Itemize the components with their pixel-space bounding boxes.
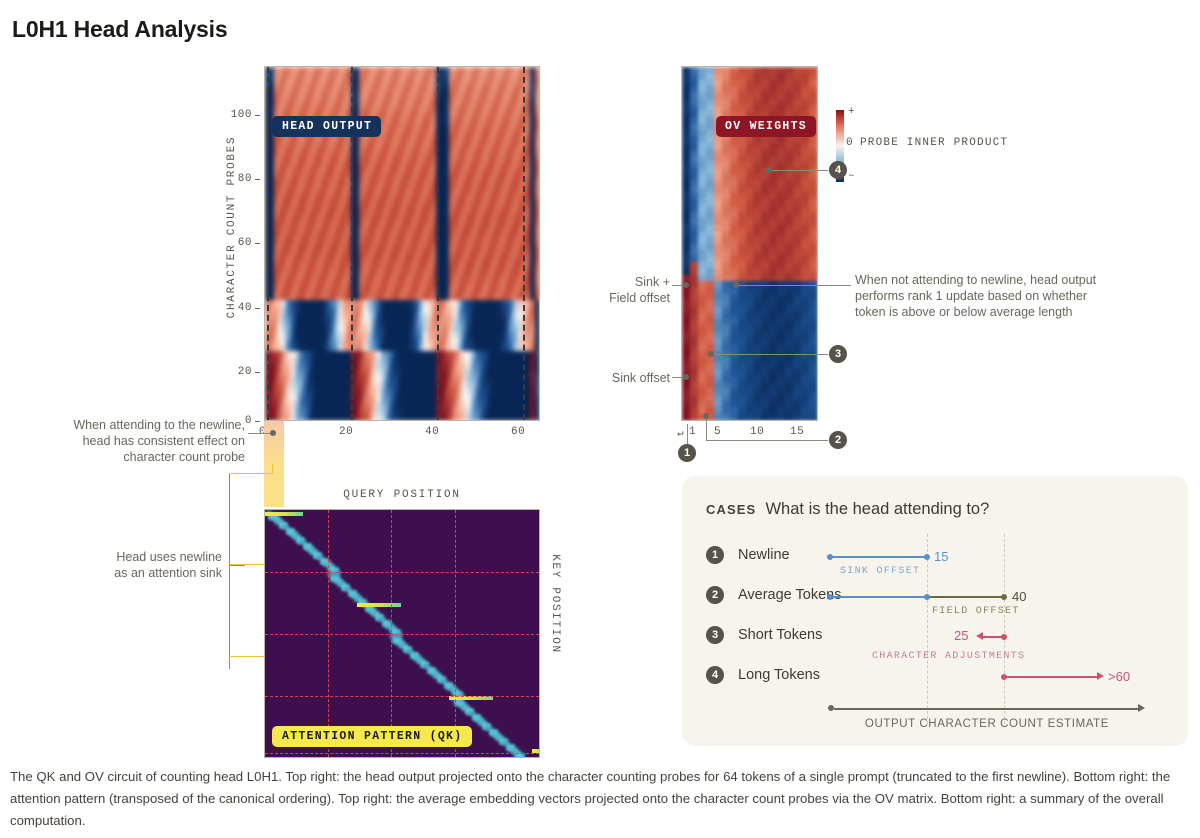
case-value-average-tokens: 40 [1012, 589, 1026, 604]
annotation-rank1-update: When not attending to newline, head outp… [855, 272, 1175, 320]
x-tick-newline: ↵ [677, 426, 684, 440]
label-sink-offset: Sink offset [560, 370, 670, 386]
sink-field-offset-line1: Sink + [560, 274, 670, 290]
annotation-newline-line2: head has consistent effect on [10, 433, 245, 449]
colorbar-tick-minus: – [848, 170, 855, 182]
dot-sink-offset [683, 374, 689, 380]
colorbar-label: PROBE INNER PRODUCT [860, 137, 1008, 149]
y-tick-60: 60 [212, 237, 252, 249]
marker-2[interactable]: 2 [829, 431, 847, 449]
case-value-short-tokens: 25 [954, 628, 968, 643]
cases-question: What is the head attending to? [765, 500, 989, 518]
leader-rank1-update [736, 285, 851, 286]
case-arrow-long-tokens [1097, 672, 1104, 680]
marker-3[interactable]: 3 [829, 345, 847, 363]
case-label-short-tokens: Short Tokens [738, 627, 822, 643]
case-segment-long-tokens [1004, 676, 1099, 678]
newline-divider-0 [267, 67, 269, 420]
y-axis-head-output: CHARACTER COUNT PROBES 100 80 60 40 20 0 [208, 66, 264, 421]
annotation-rank1-line1: When not attending to newline, head outp… [855, 272, 1175, 288]
case-segment-avg-sink [830, 596, 927, 598]
leader-newline-effect [248, 433, 272, 434]
leader-marker-2-h [706, 440, 828, 441]
leader-marker-4 [772, 170, 828, 171]
case-marker-3: 3 [706, 626, 724, 644]
sink-bracket-arm-1 [229, 473, 273, 474]
y-tick-100: 100 [212, 109, 252, 121]
cases-guide-line-1 [927, 534, 928, 724]
newline-divider-2 [437, 67, 439, 420]
sink-bracket-riser-1 [272, 464, 273, 474]
case-label-long-tokens: Long Tokens [738, 667, 820, 683]
case-segment-label-character-adjustments: CHARACTER ADJUSTMENTS [872, 651, 1025, 662]
annotation-attention-sink: Head uses newline as an attention sink [10, 549, 222, 581]
label-sink-field-offset: Sink + Field offset [560, 274, 670, 306]
leader-marker-2-v [706, 416, 707, 440]
cases-axis-start-dot [828, 705, 834, 711]
case-label-newline: Newline [738, 547, 790, 563]
y-axis-label-key-position: KEY POSITION [549, 544, 561, 664]
case-arrow-short-tokens [976, 632, 983, 640]
attention-pattern-badge: ATTENTION PATTERN (QK) [272, 726, 472, 747]
x-tick-15: 15 [790, 426, 804, 438]
cases-axis-label: OUTPUT CHARACTER COUNT ESTIMATE [834, 718, 1140, 730]
case-segment-avg-start [827, 594, 833, 600]
marker-1[interactable]: 1 [678, 444, 696, 462]
case-value-newline: 15 [934, 549, 948, 564]
x-tick-10: 10 [750, 426, 764, 438]
y-tick-40: 40 [212, 302, 252, 314]
leader-attention-sink-tick [229, 565, 245, 566]
case-label-average-tokens: Average Tokens [738, 587, 841, 603]
case-segment-sink-offset-start [827, 554, 833, 560]
annotation-newline-line3: character count probe [10, 449, 245, 465]
marker-4[interactable]: 4 [829, 161, 847, 179]
newline-divider-3 [523, 67, 525, 420]
annotation-rank1-line2: performs rank 1 update based on whether [855, 288, 1175, 304]
annotation-rank1-line3: token is above or below average length [855, 304, 1175, 320]
leader-marker-3 [713, 354, 828, 355]
x-tick-40: 40 [425, 426, 439, 438]
x-tick-1: 1 [689, 426, 696, 438]
ov-weights-badge: OV WEIGHTS [716, 116, 816, 137]
case-segment-avg-mid [924, 594, 930, 600]
case-segment-avg-end [1001, 594, 1007, 600]
annotation-sink-line2: as an attention sink [10, 565, 222, 581]
dot-marker-4 [766, 167, 772, 173]
sink-field-offset-line2: Field offset [560, 290, 670, 306]
case-marker-2: 2 [706, 586, 724, 604]
cases-axis-arrow [1138, 704, 1145, 712]
dot-rank1-update [733, 282, 739, 288]
case-segment-label-sink-offset: SINK OFFSET [840, 566, 920, 577]
case-marker-4: 4 [706, 666, 724, 684]
case-segment-long-tokens-start [1001, 674, 1007, 680]
sink-offset-line1: Sink offset [560, 370, 670, 386]
x-axis-label-query-position: QUERY POSITION [264, 489, 540, 501]
dot-sink-field-offset [683, 282, 689, 288]
x-tick-60: 60 [511, 426, 525, 438]
case-marker-1: 1 [706, 546, 724, 564]
dot-newline-effect [270, 430, 276, 436]
figure-canvas: HEAD OUTPUT CHARACTER COUNT PROBES 100 8… [0, 46, 1200, 758]
colorbar-tick-plus: + [848, 106, 855, 118]
case-segment-sink-offset [830, 556, 927, 558]
y-tick-20: 20 [212, 366, 252, 378]
x-tick-20: 20 [339, 426, 353, 438]
y-tick-80: 80 [212, 173, 252, 185]
annotation-newline-line1: When attending to the newline, [10, 417, 245, 433]
leader-attention-sink-spine [229, 473, 230, 669]
x-tick-5: 5 [714, 426, 721, 438]
case-segment-short-tokens-anchor [1001, 634, 1007, 640]
dot-marker-2 [703, 413, 709, 419]
page-title: L0H1 Head Analysis [12, 16, 227, 43]
dot-marker-3 [708, 351, 714, 357]
annotation-sink-line1: Head uses newline [10, 549, 222, 565]
cases-kicker: CASES [706, 502, 756, 517]
cases-axis-line [834, 708, 1140, 710]
cases-guide-line-2 [1004, 534, 1005, 724]
case-value-long-tokens: >60 [1108, 669, 1130, 684]
cases-panel: CASES What is the head attending to? 1 N… [682, 476, 1188, 746]
cases-heading: CASES What is the head attending to? [706, 500, 989, 519]
annotation-newline-effect: When attending to the newline, head has … [10, 417, 245, 465]
head-output-badge: HEAD OUTPUT [272, 116, 381, 137]
figure-caption: The QK and OV circuit of counting head L… [10, 766, 1190, 832]
case-segment-sink-offset-end [924, 554, 930, 560]
attention-pattern-heatmap [264, 509, 540, 758]
case-segment-label-field-offset: FIELD OFFSET [932, 606, 1020, 617]
case-segment-field-offset [927, 596, 1004, 598]
colorbar-tick-zero: 0 [846, 137, 853, 149]
